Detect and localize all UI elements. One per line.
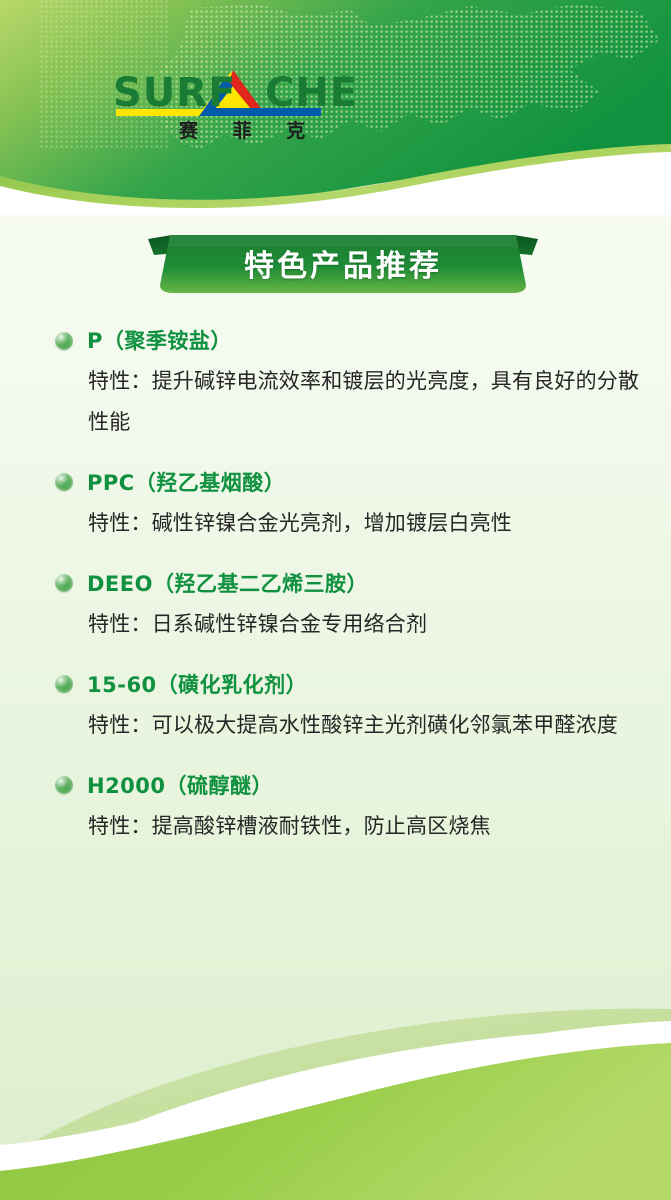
product-description: 特性：可以极大提高水性酸锌主光剂磺化邻氯苯甲醛浓度 xyxy=(0,705,671,746)
list-item: 15-60（磺化乳化剂） 特性：可以极大提高水性酸锌主光剂磺化邻氯苯甲醛浓度 xyxy=(0,669,671,746)
poster-page: SURF CHEM ® 赛 菲 克 xyxy=(0,0,671,1200)
registered-mark-icon: ® xyxy=(339,72,350,85)
product-heading: 15-60（磺化乳化剂） xyxy=(0,669,671,699)
product-description: 特性：碱性锌镍合金光亮剂，增加镀层白亮性 xyxy=(0,503,671,544)
product-list: P（聚季铵盐） 特性：提升碱锌电流效率和镀层的光亮度，具有良好的分散性能 PPC… xyxy=(0,325,671,871)
company-logo: SURF CHEM ® 赛 菲 克 xyxy=(113,62,358,140)
bullet-sphere-icon xyxy=(55,776,73,794)
product-heading: DEEO（羟乙基二乙烯三胺） xyxy=(0,568,671,598)
list-item: PPC（羟乙基烟酸） 特性：碱性锌镍合金光亮剂，增加镀层白亮性 xyxy=(0,467,671,544)
list-item: P（聚季铵盐） 特性：提升碱锌电流效率和镀层的光亮度，具有良好的分散性能 xyxy=(0,325,671,443)
product-heading: P（聚季铵盐） xyxy=(0,325,671,355)
product-heading: H2000（硫醇醚） xyxy=(0,770,671,800)
section-title-text: 特色产品推荐 xyxy=(148,233,538,295)
footer-decoration xyxy=(0,995,671,1200)
product-name: PPC（羟乙基烟酸） xyxy=(87,467,285,497)
product-description: 特性：日系碱性锌镍合金专用络合剂 xyxy=(0,604,671,645)
bullet-sphere-icon xyxy=(55,675,73,693)
logo-graphic: SURF CHEM ® 赛 菲 克 xyxy=(113,62,358,140)
bullet-sphere-icon xyxy=(55,473,73,491)
header-banner: SURF CHEM ® 赛 菲 克 xyxy=(0,0,671,215)
bullet-sphere-icon xyxy=(55,574,73,592)
footer-wave-graphic xyxy=(0,995,671,1200)
product-heading: PPC（羟乙基烟酸） xyxy=(0,467,671,497)
product-description: 特性：提高酸锌槽液耐铁性，防止高区烧焦 xyxy=(0,806,671,847)
logo-text-chinese: 赛 菲 克 xyxy=(178,119,319,140)
list-item: H2000（硫醇醚） 特性：提高酸锌槽液耐铁性，防止高区烧焦 xyxy=(0,770,671,847)
product-name: 15-60（磺化乳化剂） xyxy=(87,669,307,699)
section-title-banner: 特色产品推荐 xyxy=(148,233,538,295)
product-description: 特性：提升碱锌电流效率和镀层的光亮度，具有良好的分散性能 xyxy=(0,361,671,443)
product-name: P（聚季铵盐） xyxy=(87,325,232,355)
product-name: H2000（硫醇醚） xyxy=(87,770,273,800)
bullet-sphere-icon xyxy=(55,332,73,350)
product-name: DEEO（羟乙基二乙烯三胺） xyxy=(87,568,368,598)
logo-text-surf: SURF xyxy=(113,70,236,116)
list-item: DEEO（羟乙基二乙烯三胺） 特性：日系碱性锌镍合金专用络合剂 xyxy=(0,568,671,645)
